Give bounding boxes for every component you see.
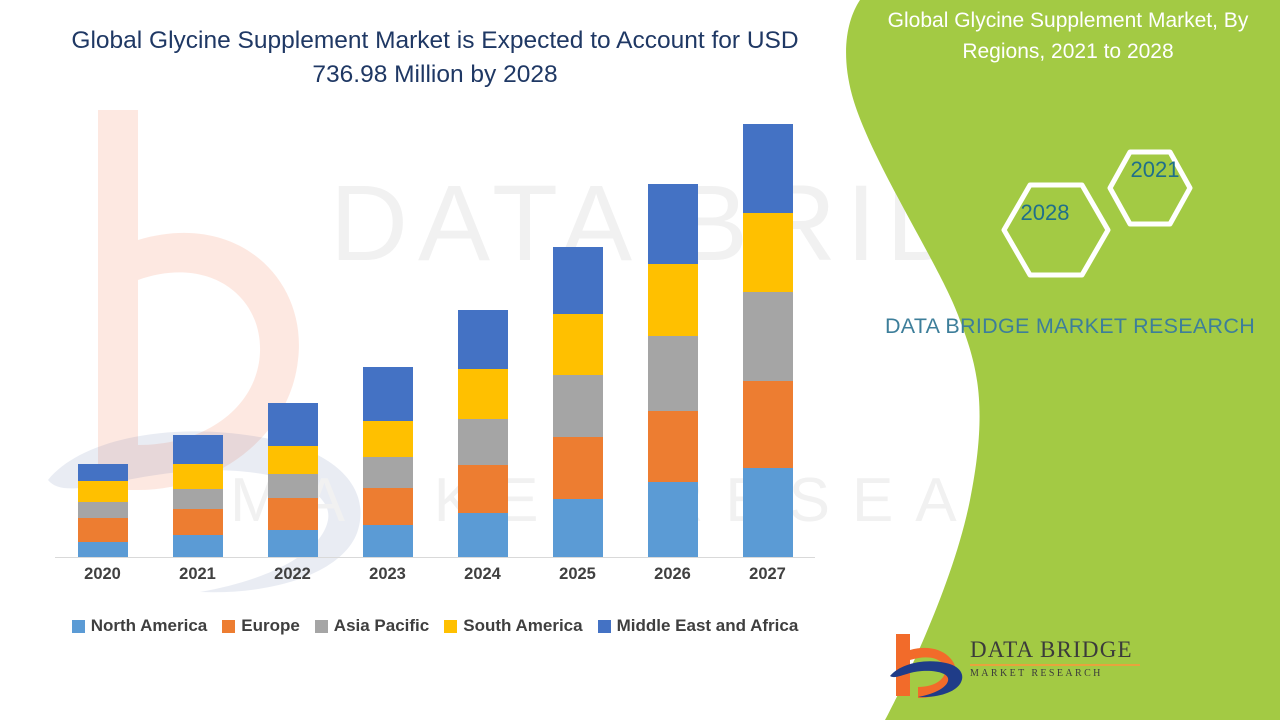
stacked-bar[interactable] [553, 247, 603, 557]
bar-segment[interactable] [363, 457, 413, 488]
legend-label: South America [463, 616, 582, 636]
bar-slot [340, 110, 435, 557]
bar-segment[interactable] [78, 542, 128, 557]
bar-segment[interactable] [648, 411, 698, 482]
bar-series-group [55, 110, 815, 557]
legend-swatch [444, 620, 457, 633]
bar-segment[interactable] [458, 369, 508, 419]
legend-label: Middle East and Africa [617, 616, 799, 636]
legend-item[interactable]: North America [72, 616, 208, 636]
bar-segment[interactable] [78, 518, 128, 542]
stacked-bar[interactable] [648, 184, 698, 557]
x-axis-tick-label: 2022 [245, 565, 340, 584]
bar-segment[interactable] [553, 247, 603, 313]
bar-segment[interactable] [363, 421, 413, 457]
company-logo: DATA BRIDGE MARKET RESEARCH [888, 630, 1138, 702]
bar-segment[interactable] [553, 499, 603, 557]
bar-segment[interactable] [743, 124, 793, 213]
bar-segment[interactable] [458, 513, 508, 557]
stacked-bar[interactable] [743, 124, 793, 557]
bar-segment[interactable] [363, 525, 413, 557]
hexagon-group: 2028 2021 [970, 140, 1270, 300]
x-axis-tick-label: 2025 [530, 565, 625, 584]
bar-segment[interactable] [648, 264, 698, 336]
stacked-bar[interactable] [78, 464, 128, 557]
chart-title: Global Glycine Supplement Market is Expe… [40, 24, 830, 92]
logo-title-text: DATA BRIDGE [970, 636, 1140, 663]
legend-swatch [598, 620, 611, 633]
green-panel: Global Glycine Supplement Market, By Reg… [830, 0, 1280, 720]
bar-segment[interactable] [173, 464, 223, 489]
bar-segment[interactable] [648, 184, 698, 265]
bar-segment[interactable] [173, 535, 223, 557]
legend-swatch [222, 620, 235, 633]
bar-segment[interactable] [743, 381, 793, 469]
bar-slot [435, 110, 530, 557]
bar-segment[interactable] [553, 314, 603, 376]
bar-segment[interactable] [78, 502, 128, 518]
hexagon-2028-shape [1004, 185, 1108, 275]
x-axis-line [55, 557, 815, 558]
bar-segment[interactable] [78, 464, 128, 480]
bar-segment[interactable] [553, 437, 603, 499]
x-axis-tick-labels: 20202021202220232024202520262027 [55, 565, 815, 584]
stacked-bar[interactable] [268, 403, 318, 557]
x-axis-tick-label: 2024 [435, 565, 530, 584]
x-axis-tick-label: 2026 [625, 565, 720, 584]
bar-segment[interactable] [458, 419, 508, 465]
bar-segment[interactable] [173, 509, 223, 535]
bar-segment[interactable] [363, 488, 413, 526]
hexagon-label-2028: 2028 [980, 200, 1110, 226]
bar-segment[interactable] [458, 465, 508, 513]
bar-segment[interactable] [268, 446, 318, 474]
logo-wordmark: DATA BRIDGE MARKET RESEARCH [970, 636, 1140, 679]
bar-segment[interactable] [268, 498, 318, 530]
legend-item[interactable]: Europe [222, 616, 300, 636]
bar-segment[interactable] [173, 435, 223, 464]
hexagon-label-2021: 2021 [1095, 157, 1215, 183]
logo-mark-icon [888, 630, 966, 702]
x-axis-tick-label: 2023 [340, 565, 435, 584]
bar-segment[interactable] [173, 489, 223, 509]
legend-swatch [72, 620, 85, 633]
stacked-bar[interactable] [458, 310, 508, 557]
bar-segment[interactable] [458, 310, 508, 369]
infographic-canvas: DATA BRIDGE MARKET RESEARCH Global Glyci… [0, 0, 1280, 720]
bar-segment[interactable] [648, 336, 698, 411]
legend-label: Europe [241, 616, 300, 636]
x-axis-tick-label: 2021 [150, 565, 245, 584]
bar-segment[interactable] [363, 367, 413, 421]
brand-name-text: DATA BRIDGE MARKET RESEARCH [875, 310, 1265, 342]
x-axis-tick-label: 2020 [55, 565, 150, 584]
chart-legend: North AmericaEuropeAsia PacificSouth Ame… [40, 616, 830, 636]
bar-segment[interactable] [743, 292, 793, 380]
stacked-bar[interactable] [363, 367, 413, 557]
x-axis-tick-label: 2027 [720, 565, 815, 584]
bar-segment[interactable] [268, 403, 318, 446]
bar-segment[interactable] [648, 482, 698, 557]
bar-slot [245, 110, 340, 557]
bar-segment[interactable] [743, 213, 793, 292]
chart-pane: Global Glycine Supplement Market is Expe… [0, 0, 860, 720]
legend-label: Asia Pacific [334, 616, 429, 636]
bar-slot [55, 110, 150, 557]
bar-segment[interactable] [268, 530, 318, 557]
bar-segment[interactable] [268, 474, 318, 498]
bar-slot [720, 110, 815, 557]
stacked-bar[interactable] [173, 435, 223, 557]
bar-slot [150, 110, 245, 557]
legend-item[interactable]: Asia Pacific [315, 616, 429, 636]
green-panel-content: Global Glycine Supplement Market, By Reg… [830, 0, 1280, 720]
bar-segment[interactable] [78, 481, 128, 502]
bar-segment[interactable] [553, 375, 603, 437]
bar-slot [625, 110, 720, 557]
plot-area [55, 110, 815, 558]
green-panel-title: Global Glycine Supplement Market, By Reg… [868, 5, 1268, 67]
legend-item[interactable]: Middle East and Africa [598, 616, 799, 636]
logo-divider [970, 664, 1140, 666]
legend-label: North America [91, 616, 208, 636]
bar-slot [530, 110, 625, 557]
legend-swatch [315, 620, 328, 633]
logo-subtitle-text: MARKET RESEARCH [970, 668, 1140, 679]
legend-item[interactable]: South America [444, 616, 582, 636]
bar-segment[interactable] [743, 468, 793, 557]
